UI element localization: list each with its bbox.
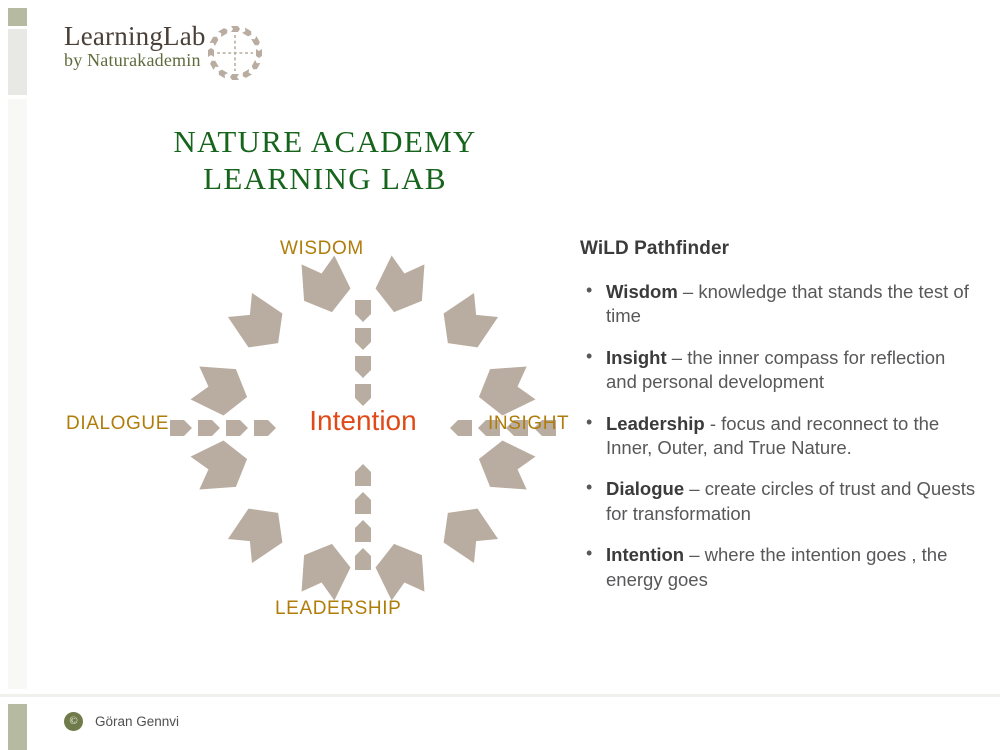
bullet-lead: Dialogue [606,478,684,499]
diagram-label-insight: INSIGHT [488,413,569,435]
logo-subline: by Naturakademin [64,51,334,71]
diagram-label-leadership: LEADERSHIP [275,598,401,620]
logo-wordmark: LearningLab [64,22,334,51]
slide-canvas: LearningLab by Naturakademin [0,0,1000,750]
page-title: NATURE ACADEMY LEARNING LAB [110,124,540,197]
pathfinder-panel: WiLD Pathfinder Wisdom – knowledge that … [580,238,980,609]
diagram-label-wisdom: WISDOM [280,238,364,260]
panel-heading: WiLD Pathfinder [580,238,980,260]
list-item: Dialogue – create circles of trust and Q… [580,477,980,526]
footer-divider [0,694,1000,697]
wild-pathfinder-diagram: WISDOM INSIGHT DIALOGUE LEADERSHIP Inten… [60,228,580,628]
list-item: Leadership - focus and reconnect to the … [580,412,980,461]
rail-strip [8,99,27,689]
bullet-lead: Leadership [606,413,705,434]
bullet-lead: Wisdom [606,281,678,302]
brand-logo: LearningLab by Naturakademin [64,22,334,84]
page-title-line-2: LEARNING LAB [110,161,540,198]
rail-block-top [8,8,27,26]
slide-footer: © Göran Gennvi [64,712,179,731]
rail-block-gray [8,29,27,95]
page-title-line-1: NATURE ACADEMY [110,124,540,161]
list-item: Intention – where the intention goes , t… [580,543,980,592]
bullet-lead: Insight [606,347,667,368]
circular-arrows-compass-icon [204,22,266,84]
bullet-lead: Intention [606,544,684,565]
diagram-center-label: Intention [283,405,443,437]
diagram-label-dialogue: DIALOGUE [66,413,169,435]
list-item: Insight – the inner compass for reflecti… [580,346,980,395]
footer-author: Göran Gennvi [95,714,179,729]
copyright-icon: © [64,712,83,731]
rail-block-bottom [8,704,27,750]
pathfinder-bullet-list: Wisdom – knowledge that stands the test … [580,280,980,592]
list-item: Wisdom – knowledge that stands the test … [580,280,980,329]
